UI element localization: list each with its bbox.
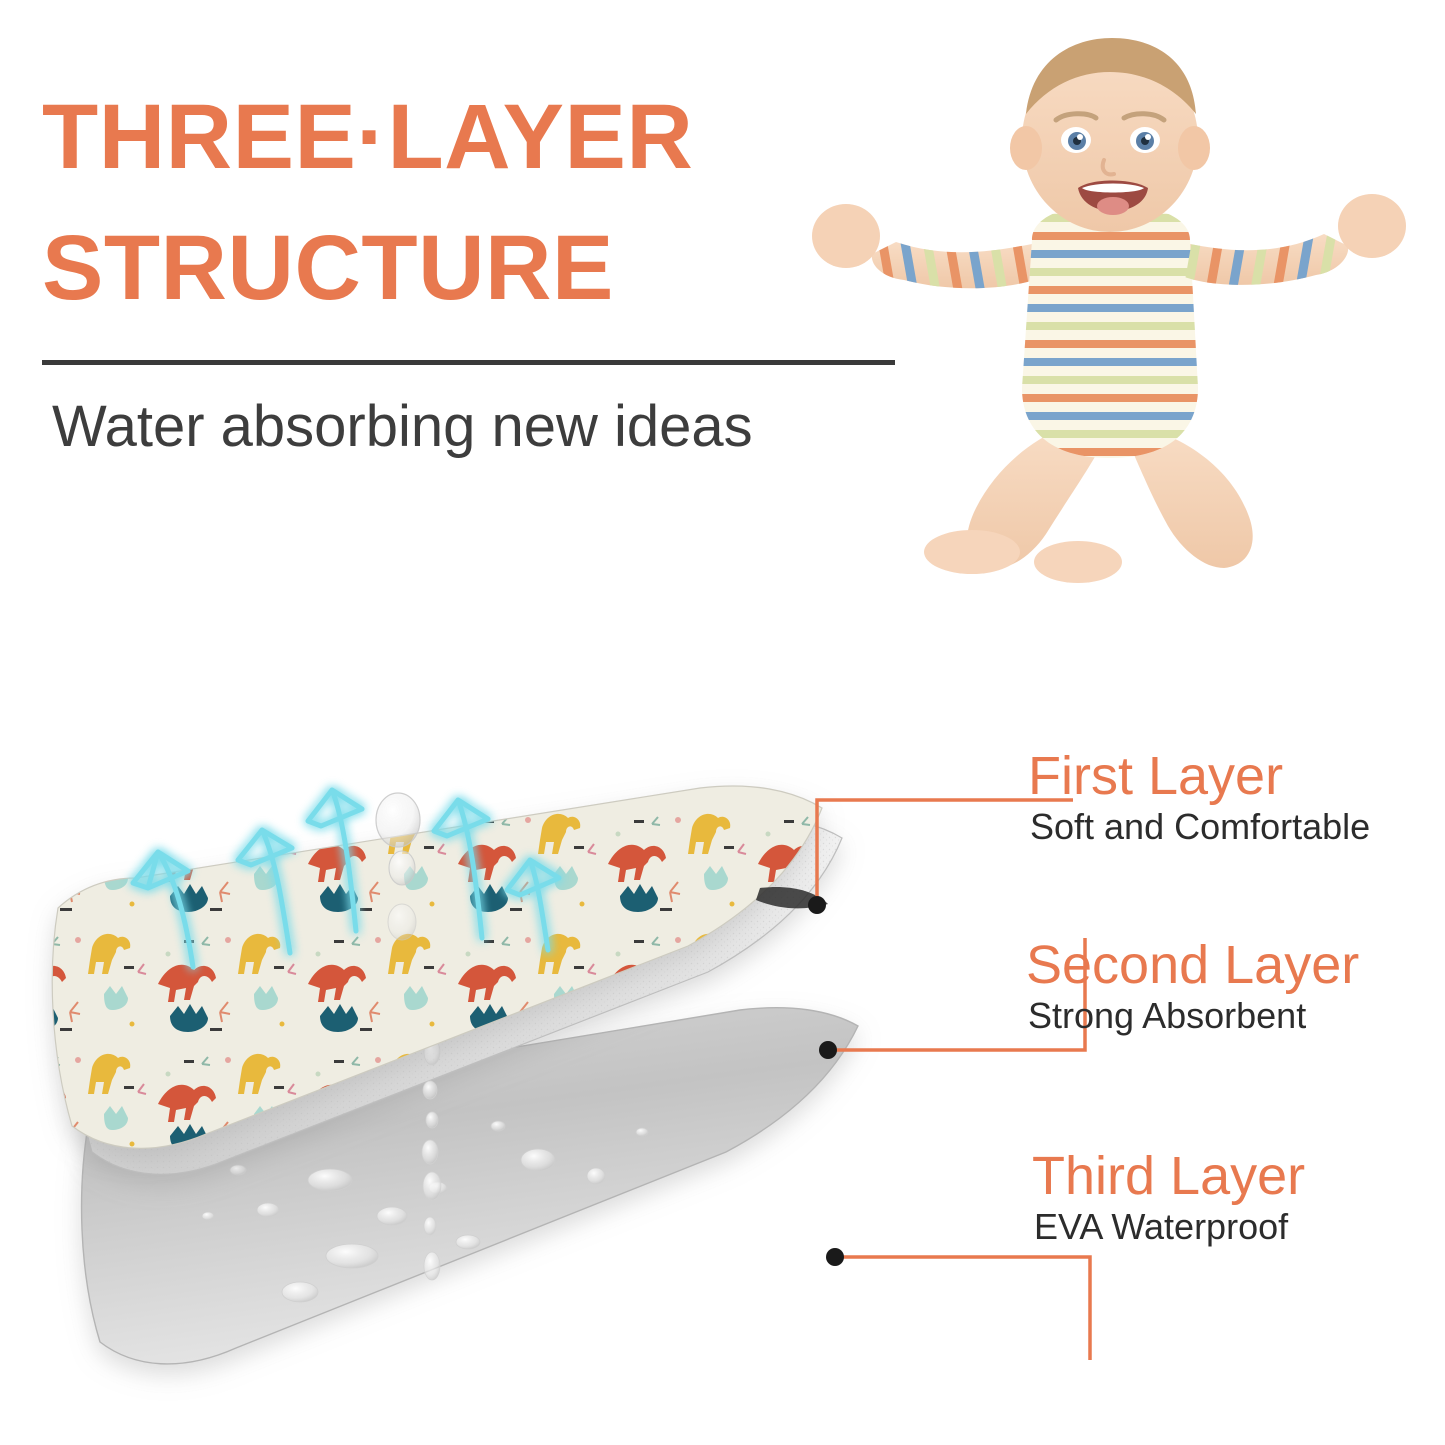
anchor-dot-second [819,1041,837,1059]
anchor-dot-first [808,896,826,914]
leader-line-third [835,1257,1090,1360]
callout-second-layer-subtitle: Strong Absorbent [1028,996,1359,1036]
anchor-dot-third [826,1248,844,1266]
callout-first-layer-title: First Layer [1028,748,1370,805]
callout-third-layer-subtitle: EVA Waterproof [1034,1207,1305,1247]
callout-first-layer-subtitle: Soft and Comfortable [1030,807,1370,847]
callout-third-layer-title: Third Layer [1032,1148,1305,1205]
header-block: THREE·LAYER STRUCTURE [42,72,922,333]
callout-third-layer: Third Layer EVA Waterproof [1032,1148,1305,1247]
page-title: THREE·LAYER STRUCTURE [42,72,922,333]
product-infographic: THREE·LAYER STRUCTURE Water absorbing ne… [0,0,1445,1445]
subtitle: Water absorbing new ideas [52,392,753,462]
callout-first-layer: First Layer Soft and Comfortable [1028,748,1370,847]
baby-photo [800,28,1420,593]
title-divider [42,360,895,365]
baby-illustration [800,28,1420,593]
callout-second-layer-title: Second Layer [1026,937,1359,994]
leader-lines [817,800,1090,1360]
callout-second-layer: Second Layer Strong Absorbent [1026,937,1359,1036]
